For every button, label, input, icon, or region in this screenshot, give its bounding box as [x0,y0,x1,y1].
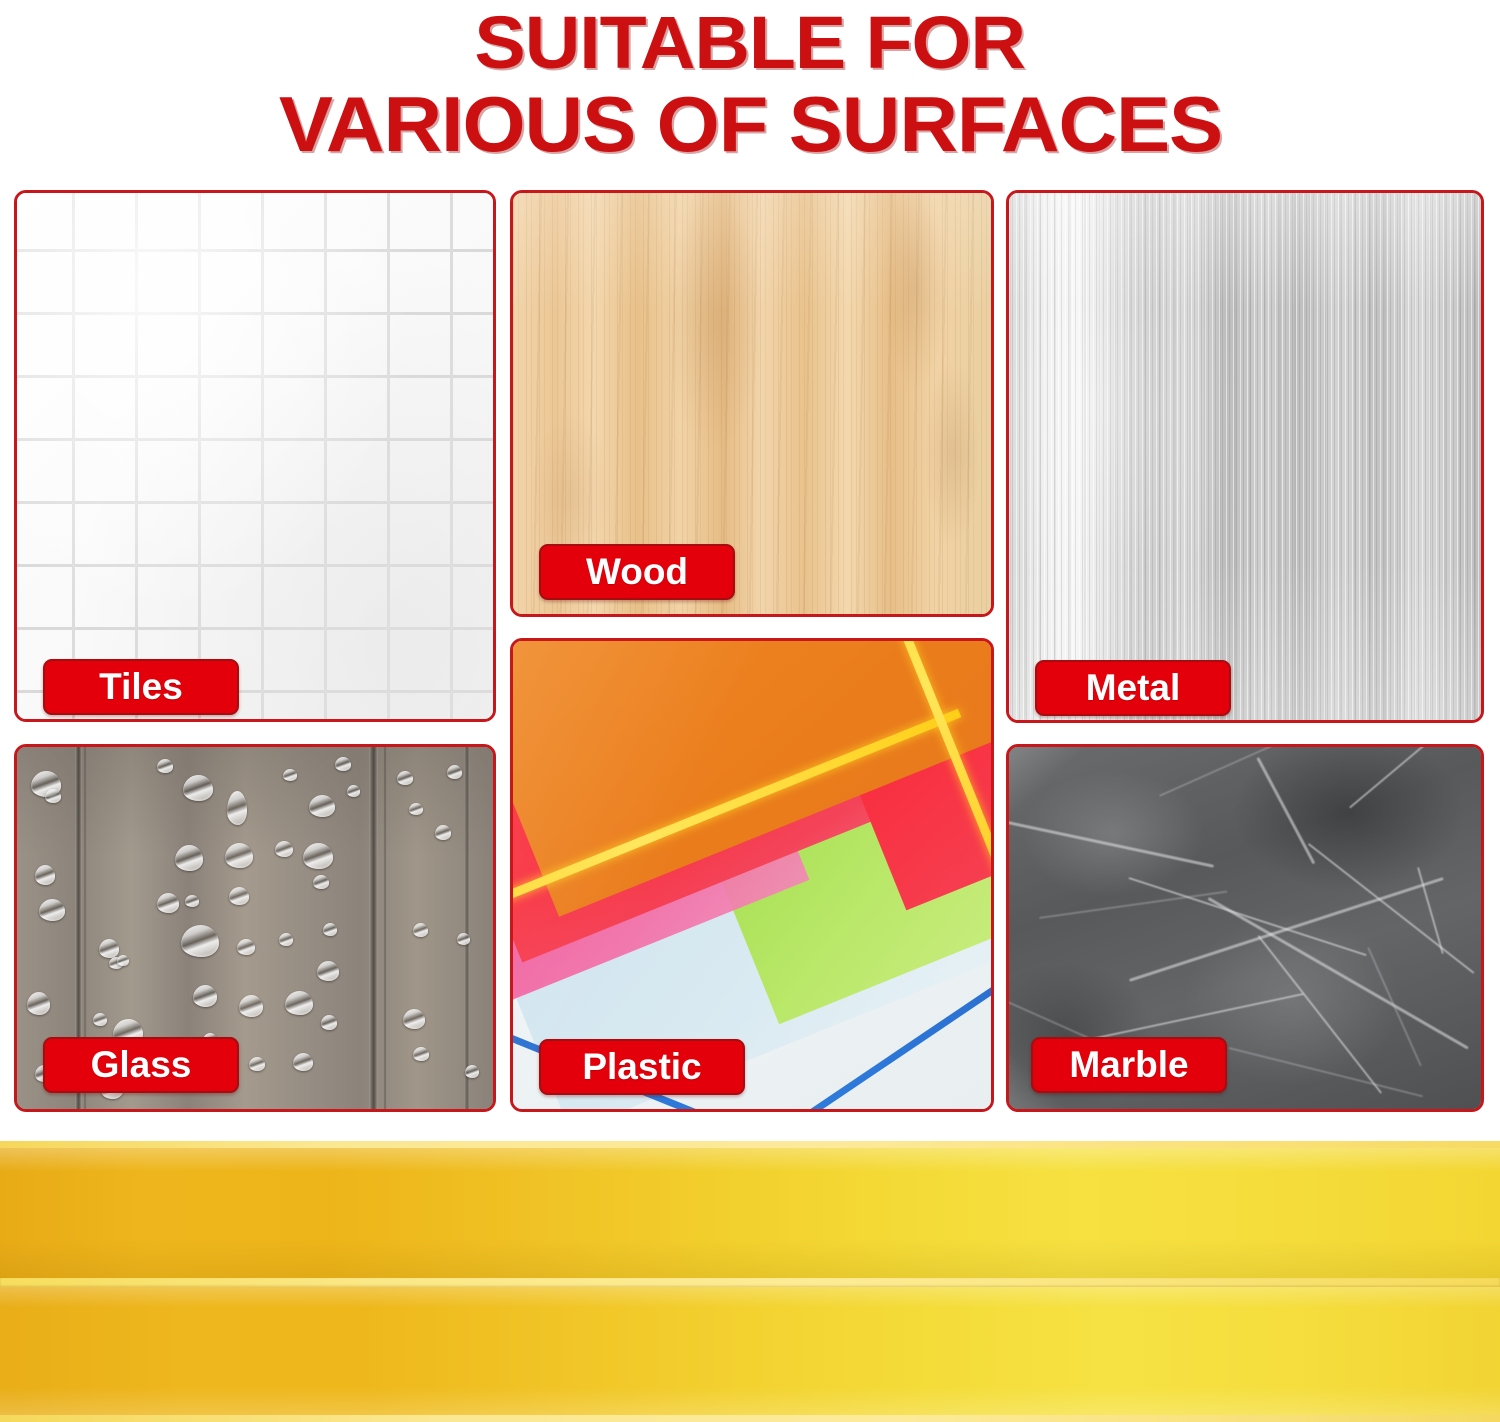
product-bar-upper-face [0,1148,1500,1278]
product-bar-top-highlight [0,1141,1500,1148]
surface-card-wood: Wood [510,190,994,617]
surface-card-glass: Glass [14,744,496,1112]
surface-label-marble: Marble [1031,1037,1227,1093]
surface-card-metal: Metal [1006,190,1484,723]
product-bar-bottom-highlight [0,1415,1500,1422]
metal-texture [1009,193,1481,720]
page-title: SUITABLE FOR VARIOUS OF SURFACES [0,0,1500,178]
surface-grid: Tiles Wood Metal [0,186,1500,1126]
page-title-line-2: VARIOUS OF SURFACES [278,82,1221,166]
surface-label-plastic: Plastic [539,1039,745,1095]
surface-card-plastic: Plastic [510,638,994,1112]
product-bar-crease [0,1278,1500,1287]
surface-card-marble: Marble [1006,744,1484,1112]
product-bar-lower-face [0,1287,1500,1415]
surface-label-metal: Metal [1035,660,1231,716]
tiles-texture [17,193,493,719]
surface-label-tiles: Tiles [43,659,239,715]
surface-label-glass: Glass [43,1037,239,1093]
surface-label-wood: Wood [539,544,735,600]
surface-card-tiles: Tiles [14,190,496,722]
page-title-line-1: SUITABLE FOR [475,4,1025,82]
